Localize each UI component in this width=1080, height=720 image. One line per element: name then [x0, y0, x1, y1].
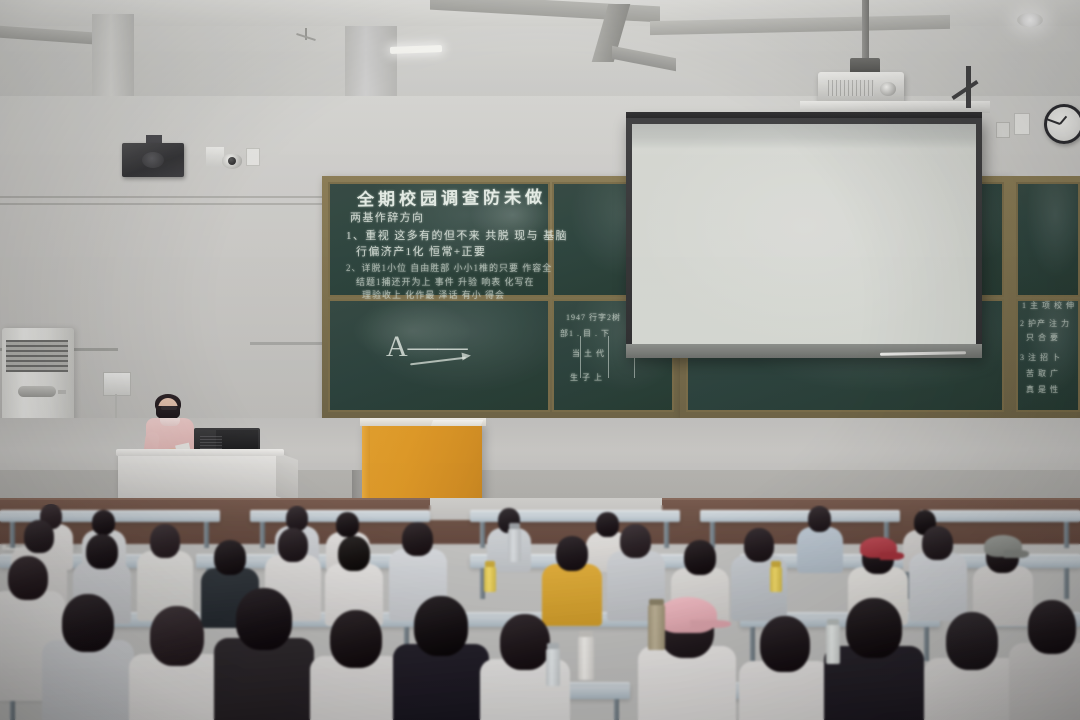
projector-lens [880, 82, 896, 96]
cap-brim [1004, 550, 1029, 558]
desk-leg [480, 522, 485, 548]
wall-trim-line [0, 196, 340, 198]
chalk-smudge [470, 186, 556, 244]
student-torso [42, 640, 134, 720]
student-head [922, 526, 953, 560]
bottle-cap [579, 631, 593, 637]
student-head [62, 594, 114, 652]
projector-mount-pole [862, 0, 869, 60]
desk-leg [204, 522, 209, 548]
student-torso [909, 553, 967, 621]
podium-equipment-vent [200, 436, 222, 450]
bottle-cap [771, 561, 781, 567]
bottle-clear-1 [546, 648, 560, 686]
cap-brim [880, 552, 904, 560]
wall-trim-line [0, 203, 340, 205]
desk-leg [614, 699, 619, 720]
student-head [150, 606, 204, 666]
cap-brim [690, 620, 731, 628]
bottle-clear-2 [826, 624, 840, 664]
wall-clock-icon [1044, 104, 1080, 144]
bottle-cap [827, 619, 839, 625]
speaker-cone [142, 152, 164, 168]
desk-leg [664, 522, 669, 548]
blackboard-sketch-arrow-head [462, 351, 472, 360]
student-head [278, 528, 308, 562]
student-head [150, 524, 180, 558]
projection-screen-surface: 主页 导航 目录 设置 01 基本情况实验计 02 调研课题主实施 03 课方结… [632, 124, 976, 350]
student-head [556, 536, 588, 571]
blackboard-panel-bottom-far-right [1016, 299, 1080, 412]
student-torso [542, 564, 602, 626]
desk-leg [1064, 568, 1069, 599]
student-torso [214, 638, 314, 720]
student-head [236, 588, 292, 650]
student-head [86, 534, 118, 569]
bottle-cap [547, 643, 559, 649]
wall-socket[interactable] [1014, 113, 1030, 135]
student-head [24, 520, 54, 553]
lecture-podium[interactable] [118, 452, 282, 502]
desk-edge [700, 510, 900, 514]
wall-control-box-icon [103, 372, 131, 396]
bottle-tan-thermos [648, 604, 665, 650]
projector-vent [828, 80, 874, 96]
student-head [414, 596, 468, 656]
blackboard-panel-top-far-right [1016, 182, 1080, 297]
lecturer-collar [160, 418, 180, 426]
bottle-cap [485, 561, 495, 567]
bottle-cap [509, 523, 520, 529]
podium-worktop [116, 449, 284, 456]
student-head [336, 512, 359, 537]
student-head [500, 614, 550, 670]
ceiling-column-middle [345, 26, 397, 98]
desk-leg [260, 522, 265, 548]
desk-leg [10, 699, 15, 720]
student-head [620, 524, 651, 558]
diagram-stem [608, 336, 609, 378]
student-head [596, 512, 619, 537]
lectern-top-surface-angle [431, 420, 483, 426]
student-head [760, 616, 810, 672]
wall-plate [246, 148, 260, 166]
student-head [338, 536, 370, 571]
desk-leg [10, 522, 15, 548]
student-head [684, 540, 716, 575]
camera-lens [228, 157, 236, 165]
ac-brand-badge [18, 386, 56, 397]
bottle-cap [649, 599, 664, 605]
student-head [92, 510, 115, 535]
podium-side-panel [276, 452, 298, 504]
student-torso [1009, 643, 1080, 720]
ac-upper-louvers [6, 340, 68, 372]
student-head [808, 506, 831, 532]
bottle-white-1 [578, 636, 594, 680]
bottle-yellow-2 [770, 566, 782, 592]
student-head [8, 556, 48, 600]
glasses-icon [161, 406, 177, 410]
bottle-yellow-1 [484, 566, 496, 592]
student-head [744, 528, 774, 562]
camera-housing [206, 147, 224, 167]
diagram-stem [580, 336, 581, 378]
ac-indicator-light [58, 390, 66, 394]
desk-leg [750, 627, 755, 661]
student-head [214, 540, 246, 575]
student-torso [797, 527, 843, 573]
wall-switch[interactable] [996, 122, 1010, 138]
desk-edge [920, 510, 1080, 514]
student-head [846, 598, 902, 658]
student-head [402, 522, 433, 556]
desk-leg [924, 627, 929, 661]
student-head [1028, 600, 1076, 654]
classroom-photograph: 全期校园调查防未做 两基作辞方向 1、重视 这多有的但不来 共脱 现与 基脑 行… [0, 0, 1080, 720]
ceiling-downlight-icon [1017, 13, 1043, 27]
student-head [946, 612, 998, 670]
desk-leg [1064, 522, 1069, 548]
student-head [330, 610, 382, 668]
bottle-silver-thermos [508, 528, 521, 562]
